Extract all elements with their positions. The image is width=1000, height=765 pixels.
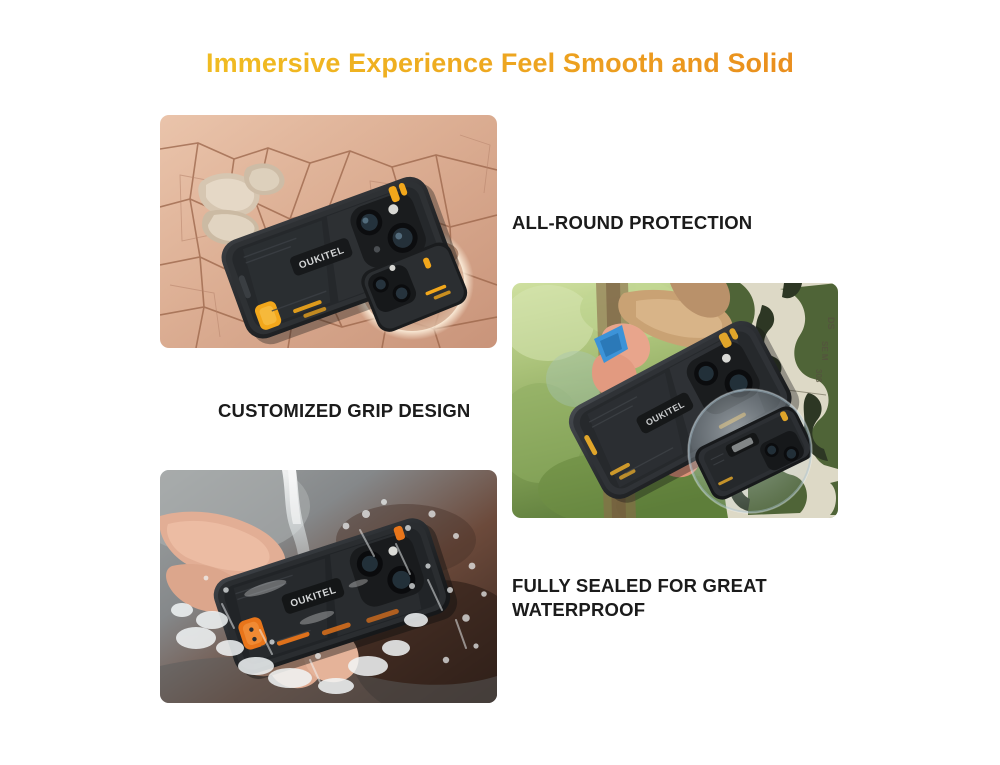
caption-all-round-protection: ALL-ROUND PROTECTION (512, 211, 752, 235)
grip-scene-illustration: DS SE M 308 (512, 283, 838, 518)
photo-gloved-hand-gripping-phone: DS SE M 308 (512, 283, 838, 518)
desert-scene-illustration: OUKITEL (160, 115, 497, 348)
photo-phone-under-running-water: OUKITEL (160, 470, 497, 703)
waterproof-scene-illustration: OUKITEL (160, 470, 497, 703)
product-feature-panel: Immersive Experience Feel Smooth and Sol… (0, 0, 1000, 765)
caption-customized-grip-design: CUSTOMIZED GRIP DESIGN (218, 399, 470, 423)
svg-text:SE M: SE M (820, 341, 829, 361)
svg-text:DS: DS (826, 317, 836, 330)
svg-text:308: 308 (814, 369, 823, 383)
caption-fully-sealed-waterproof: FULLY SEALED FOR GREAT WATERPROOF (512, 574, 767, 623)
photo-phone-on-cracked-desert-earth: OUKITEL (160, 115, 497, 348)
page-title: Immersive Experience Feel Smooth and Sol… (0, 48, 1000, 79)
